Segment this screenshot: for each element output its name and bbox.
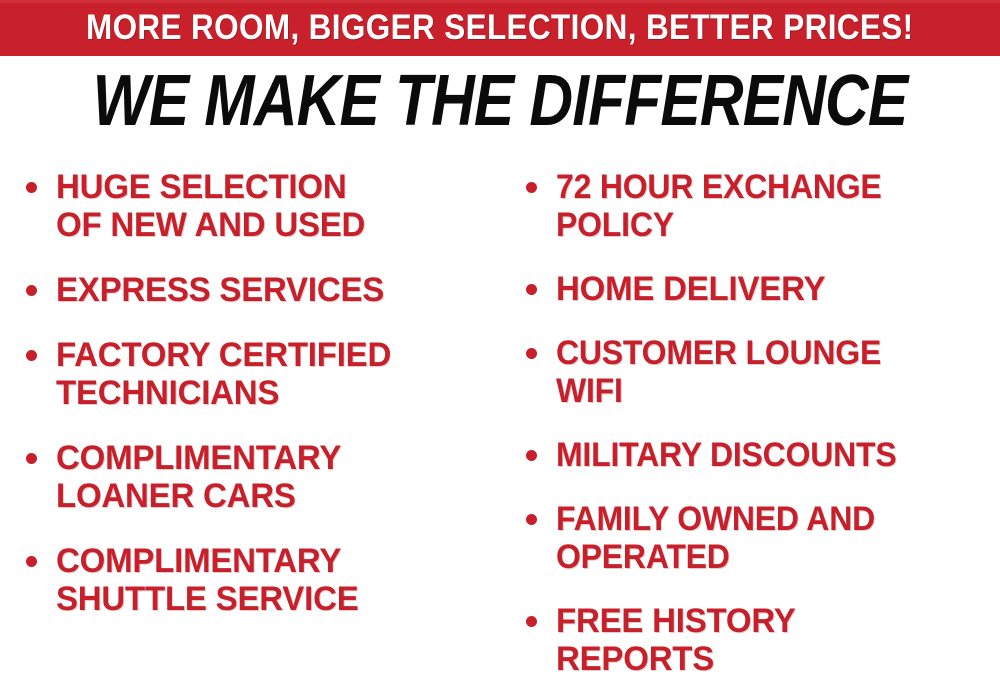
bullet-dot-icon <box>526 514 537 525</box>
list-item: FREE HISTORY REPORTS <box>522 602 1000 678</box>
list-item: EXPRESS SERVICES <box>22 271 500 309</box>
page-title: WE MAKE THE DIFFERENCE <box>80 64 920 138</box>
list-item-label: MILITARY DISCOUNTS <box>556 436 973 474</box>
list-item-label: EXPRESS SERVICES <box>56 271 487 309</box>
bullet-dot-icon <box>26 556 37 567</box>
list-item: CUSTOMER LOUNGE WIFI <box>522 334 1000 410</box>
bullet-dot-icon <box>26 285 37 296</box>
benefits-column-right: 72 HOUR EXCHANGE POLICY HOME DELIVERY CU… <box>500 160 1000 694</box>
list-item-label: CUSTOMER LOUNGE WIFI <box>556 334 973 410</box>
list-item-label: FREE HISTORY REPORTS <box>556 602 987 678</box>
bullet-dot-icon <box>526 450 537 461</box>
list-item-label: 72 HOUR EXCHANGE POLICY <box>556 168 973 244</box>
bullet-dot-icon <box>26 182 37 193</box>
list-item: COMPLIMENTARY SHUTTLE SERVICE <box>22 542 500 618</box>
bullet-dot-icon <box>526 182 537 193</box>
promotional-banner: MORE ROOM, BIGGER SELECTION, BETTER PRIC… <box>0 0 1000 694</box>
list-item-label: FACTORY CERTIFIED TECHNICIANS <box>56 336 487 412</box>
bullet-dot-icon <box>526 616 537 627</box>
headline-band: MORE ROOM, BIGGER SELECTION, BETTER PRIC… <box>0 0 1000 56</box>
list-item-label: FAMILY OWNED AND OPERATED <box>556 500 973 576</box>
list-item: HUGE SELECTION OF NEW AND USED <box>22 168 500 244</box>
list-item: COMPLIMENTARY LOANER CARS <box>22 439 500 515</box>
list-item: HOME DELIVERY <box>522 270 1000 308</box>
bullet-dot-icon <box>526 284 537 295</box>
bullet-dot-icon <box>26 350 37 361</box>
bullet-dot-icon <box>26 453 37 464</box>
benefits-column-left: HUGE SELECTION OF NEW AND USED EXPRESS S… <box>0 160 500 694</box>
headline-text: MORE ROOM, BIGGER SELECTION, BETTER PRIC… <box>86 10 914 46</box>
benefits-columns: HUGE SELECTION OF NEW AND USED EXPRESS S… <box>0 160 1000 694</box>
list-item-label: HUGE SELECTION OF NEW AND USED <box>56 168 487 244</box>
list-item: FACTORY CERTIFIED TECHNICIANS <box>22 336 500 412</box>
list-item-label: COMPLIMENTARY SHUTTLE SERVICE <box>56 542 487 618</box>
list-item: MILITARY DISCOUNTS <box>522 436 1000 474</box>
list-item-label: HOME DELIVERY <box>556 270 987 308</box>
list-item-label: COMPLIMENTARY LOANER CARS <box>56 439 487 515</box>
list-item: FAMILY OWNED AND OPERATED <box>522 500 1000 576</box>
bullet-dot-icon <box>526 348 537 359</box>
list-item: 72 HOUR EXCHANGE POLICY <box>522 168 1000 244</box>
